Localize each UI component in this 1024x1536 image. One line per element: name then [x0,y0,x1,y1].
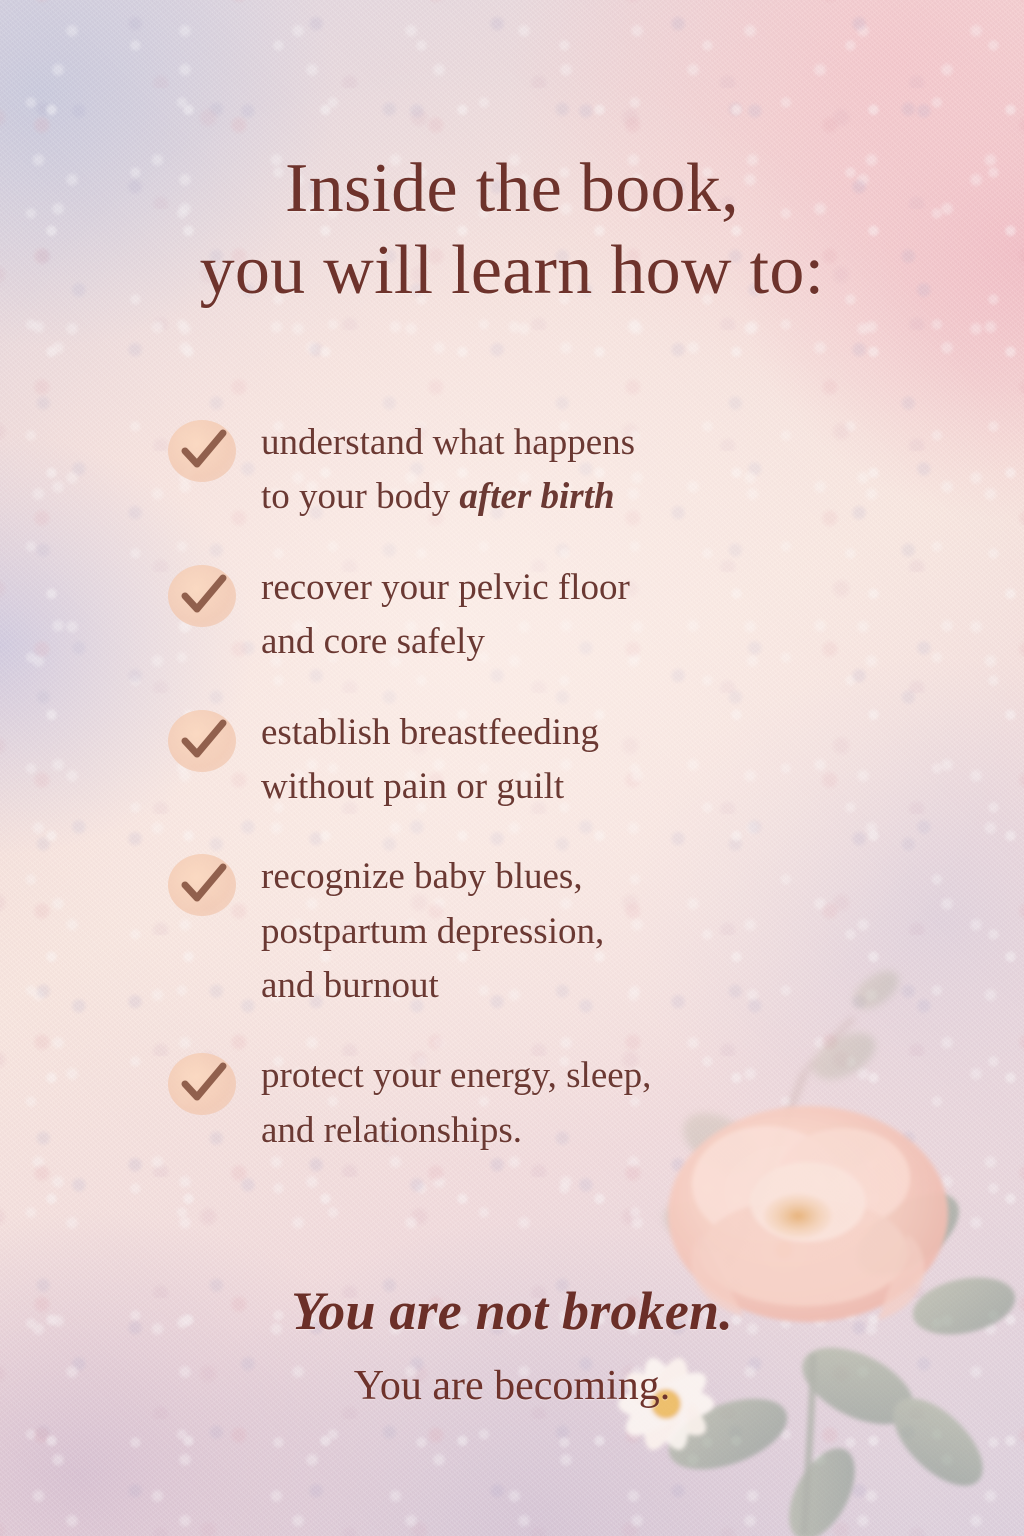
list-item-text: establish breastfeeding without pain or … [261,706,868,815]
list-item-line: protect your energy, sleep, [261,1049,868,1103]
list-item-line-text: to your body [261,476,459,517]
closing-subline: You are becoming. [0,1363,1024,1409]
list-item-line: without pain or guilt [261,760,868,814]
check-icon [168,1053,236,1115]
benefits-list: understand what happens to your body aft… [168,416,868,1158]
page-title: Inside the book, you will learn how to: [0,148,1024,312]
check-icon [168,420,236,482]
list-item-text: understand what happens to your body aft… [261,416,868,525]
closing-statement: You are not broken. You are becoming. [0,1282,1024,1410]
heading-line-2: you will learn how to: [0,230,1024,312]
list-item-line: recognize baby blues, [261,850,868,904]
list-item: establish breastfeeding without pain or … [168,706,868,815]
check-icon [168,565,236,627]
check-icon [168,710,236,772]
list-item-line: understand what happens [261,416,868,470]
heading-line-1: Inside the book, [0,148,1024,230]
list-item-line: and burnout [261,959,868,1013]
list-item: understand what happens to your body aft… [168,416,868,525]
list-item-line: to your body after birth [261,470,868,524]
list-item-emphasis: after birth [459,476,614,517]
list-item-line: recover your pelvic floor [261,561,868,615]
list-item-line: postpartum depression, [261,905,868,959]
list-item-line: and core safely [261,615,868,669]
list-item: protect your energy, sleep, and relation… [168,1049,868,1158]
poster-canvas: Inside the book, you will learn how to: … [0,0,1024,1536]
list-item-line: establish breastfeeding [261,706,868,760]
list-item-line: and relationships. [261,1104,868,1158]
list-item-text: protect your energy, sleep, and relation… [261,1049,868,1158]
closing-headline: You are not broken. [0,1282,1024,1341]
list-item-text: recognize baby blues, postpartum depress… [261,850,868,1013]
list-item: recover your pelvic floor and core safel… [168,561,868,670]
list-item: recognize baby blues, postpartum depress… [168,850,868,1013]
list-item-text: recover your pelvic floor and core safel… [261,561,868,670]
check-icon [168,854,236,916]
